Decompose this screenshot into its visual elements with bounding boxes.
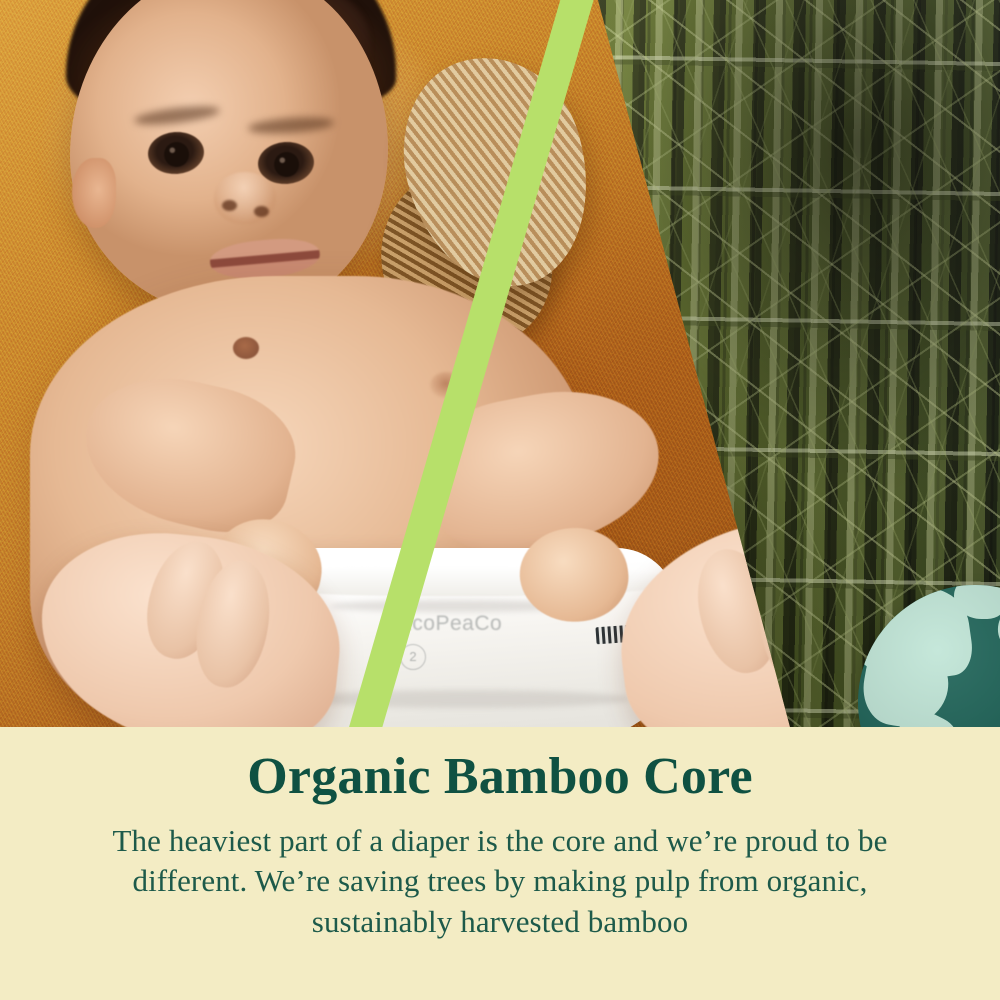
headline: Organic Bamboo Core xyxy=(0,749,1000,805)
baby-nostril-left xyxy=(222,200,237,211)
product-feature-card: EcoPeaCo 2 xyxy=(0,0,1000,1000)
diaper-fold-lower xyxy=(300,690,630,708)
baby-nose xyxy=(214,172,276,224)
photo-band: EcoPeaCo 2 xyxy=(0,0,1000,727)
baby-nostril-right xyxy=(254,206,269,217)
baby-chest-mark xyxy=(233,337,259,359)
text-panel: Organic Bamboo Core The heaviest part of… xyxy=(0,727,1000,1000)
baby-ear xyxy=(72,158,116,228)
subcopy: The heaviest part of a diaper is the cor… xyxy=(60,821,940,942)
